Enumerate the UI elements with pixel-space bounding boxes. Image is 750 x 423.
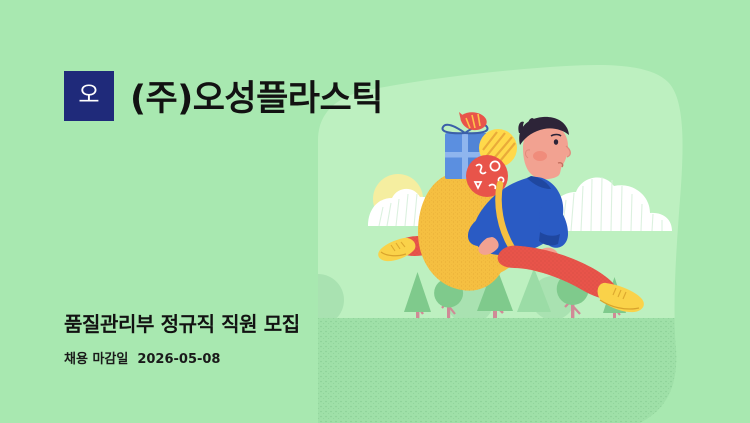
- logo-glyph: 오: [78, 84, 99, 107]
- deadline-row: 채용 마감일 2026-05-08: [64, 348, 300, 367]
- job-copy-block: 품질관리부 정규직 직원 모집 채용 마감일 2026-05-08: [64, 308, 300, 367]
- recruitment-banner: 오 (주)오성플라스틱 품질관리부 정규직 직원 모집 채용 마감일 2026-…: [0, 0, 750, 423]
- ground-strip: [318, 318, 684, 423]
- job-title: 품질관리부 정규직 직원 모집: [64, 308, 300, 337]
- company-header: 오 (주)오성플라스틱: [64, 70, 383, 121]
- company-logo-badge: 오: [64, 71, 114, 121]
- company-name: (주)오성플라스틱: [130, 70, 383, 121]
- deadline-label: 채용 마감일: [64, 348, 128, 367]
- deadline-date: 2026-05-08: [137, 352, 220, 367]
